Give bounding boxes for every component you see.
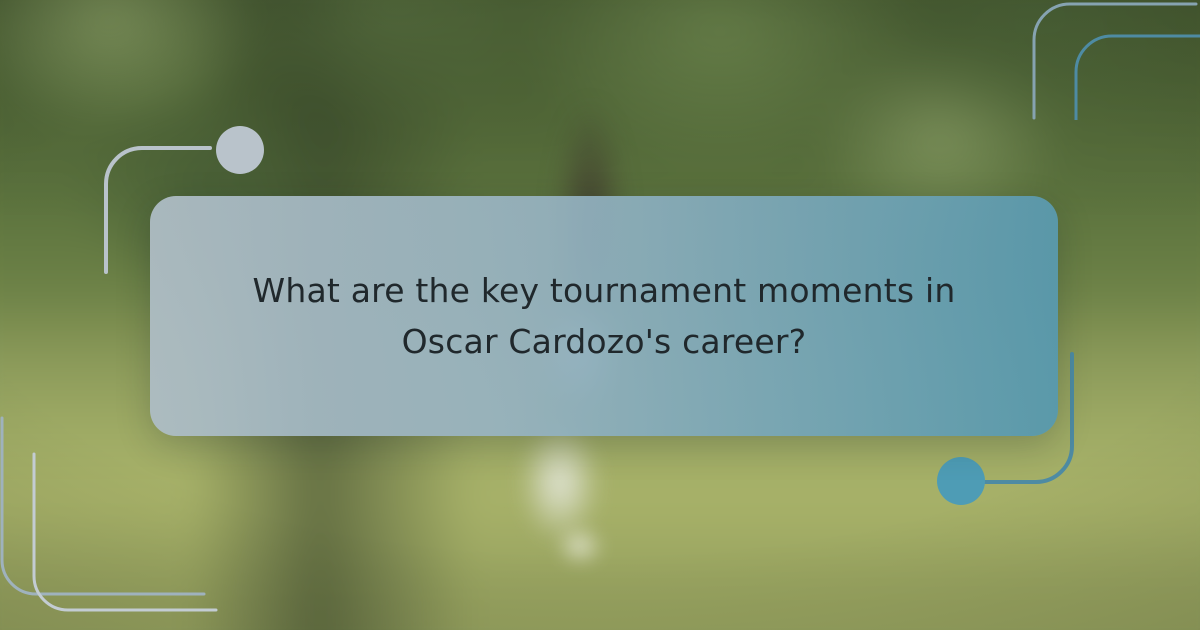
question-title: What are the key tournament moments in O… xyxy=(214,265,994,367)
question-card: What are the key tournament moments in O… xyxy=(150,196,1058,436)
decor-circle-gray xyxy=(216,126,264,174)
poster-canvas: What are the key tournament moments in O… xyxy=(0,0,1200,630)
decor-circle-teal xyxy=(937,457,985,505)
